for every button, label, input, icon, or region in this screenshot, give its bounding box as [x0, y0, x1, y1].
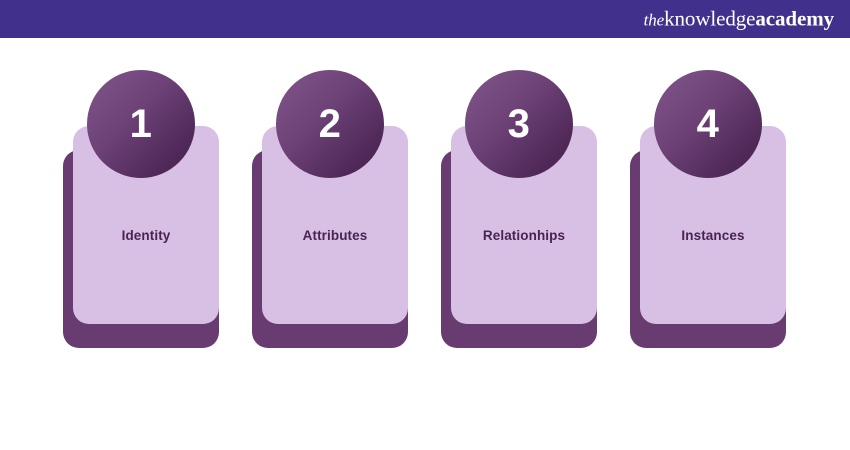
step-number: 4	[697, 104, 720, 144]
infographic-page: theknowledgeacademy Identity 1 Attribute…	[0, 0, 850, 450]
step-number-circle: 3	[465, 70, 573, 178]
step-card-3[interactable]: Relationhips 3	[441, 126, 597, 348]
step-number: 2	[319, 104, 342, 144]
header-bar: theknowledgeacademy	[0, 0, 850, 38]
logo-word-the: the	[644, 11, 664, 30]
step-number-circle: 4	[654, 70, 762, 178]
cards-row: Identity 1 Attributes 2 Relationhips 3	[0, 38, 850, 450]
card-label: Relationhips	[451, 228, 597, 243]
step-card-4[interactable]: Instances 4	[630, 126, 786, 348]
step-number: 3	[508, 104, 531, 144]
step-card-1[interactable]: Identity 1	[63, 126, 219, 348]
step-number: 1	[130, 104, 153, 144]
step-number-circle: 1	[87, 70, 195, 178]
logo-word-academy: academy	[755, 7, 834, 31]
step-card-2[interactable]: Attributes 2	[252, 126, 408, 348]
logo-word-knowledge: knowledge	[664, 7, 755, 31]
step-number-circle: 2	[276, 70, 384, 178]
card-label: Identity	[73, 228, 219, 243]
the-knowledge-academy-logo: theknowledgeacademy	[644, 9, 834, 30]
card-label: Attributes	[262, 228, 408, 243]
card-label: Instances	[640, 228, 786, 243]
